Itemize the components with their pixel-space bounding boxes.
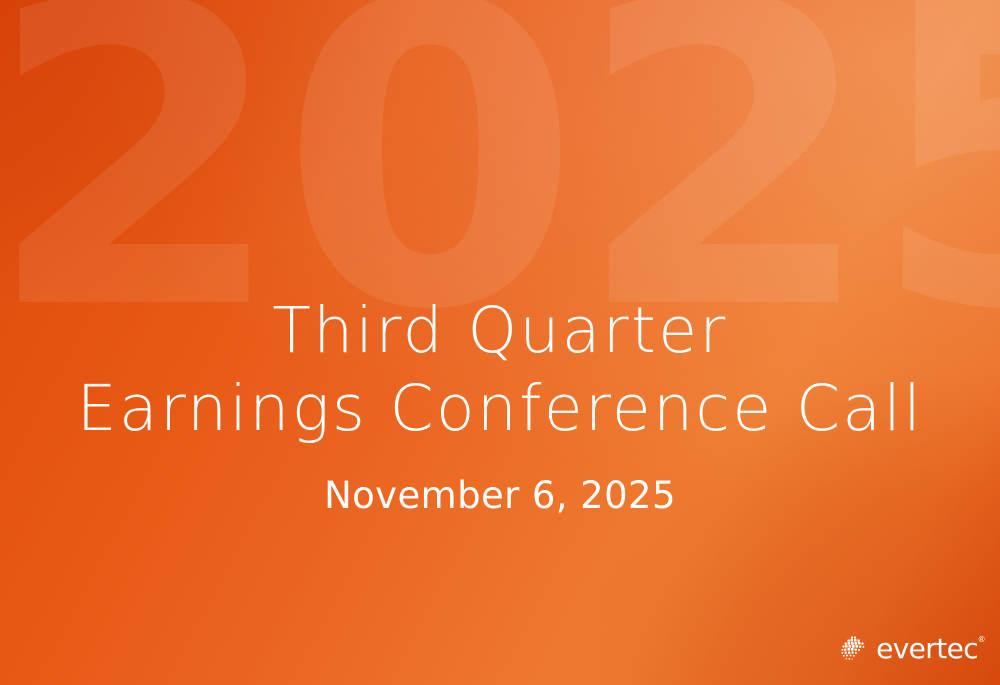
title-line-2: Earnings Conference Call xyxy=(0,370,1000,448)
trademark-symbol: ® xyxy=(978,636,985,644)
evertec-dot-cluster-icon xyxy=(840,636,867,662)
subtitle-date: November 6, 2025 xyxy=(0,474,1000,518)
title-block: Third Quarter Earnings Conference Call N… xyxy=(0,292,1000,518)
background-shade-top-left xyxy=(0,0,400,300)
title-line-1: Third Quarter xyxy=(0,292,1000,370)
title-slide: 2025 Third Quarter Earnings Conference C… xyxy=(0,0,1000,685)
evertec-wordmark: evertec ® xyxy=(876,635,978,663)
evertec-wordmark-text: evertec xyxy=(876,632,978,665)
evertec-logo: evertec ® xyxy=(840,635,978,663)
